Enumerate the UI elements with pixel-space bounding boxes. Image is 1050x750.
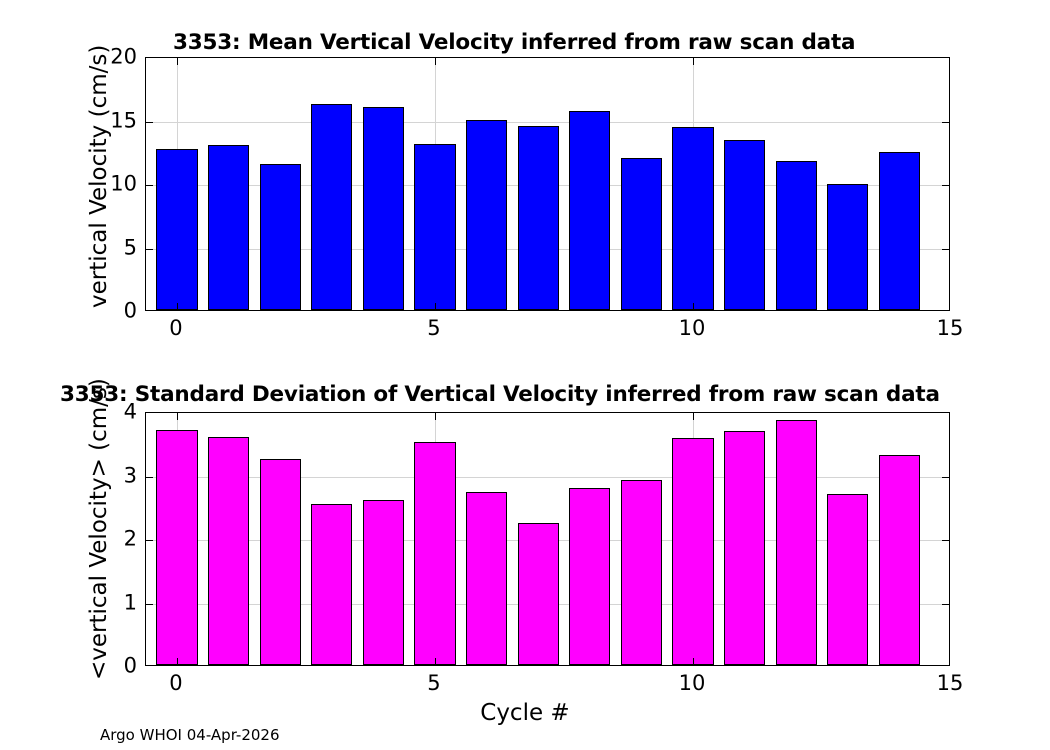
y-tick-mark	[942, 185, 949, 186]
footer-credit: Argo WHOI 04-Apr-2026	[100, 726, 280, 744]
x-axis-label: Cycle #	[0, 700, 1050, 726]
grid-line-horizontal	[146, 122, 949, 123]
bar	[724, 140, 765, 310]
bar	[414, 442, 455, 665]
chart-title-mean: 3353: Mean Vertical Velocity inferred fr…	[173, 30, 855, 55]
y-tick-labels-std: 01234	[55, 412, 145, 666]
x-tick-mark	[435, 303, 436, 310]
plot-area-std	[146, 413, 949, 665]
bar	[363, 107, 404, 310]
bar	[621, 158, 662, 310]
x-tick-mark	[693, 58, 694, 65]
plot-area-mean	[146, 58, 949, 310]
y-tick-label: 15	[55, 110, 145, 131]
x-tick-label: 5	[427, 673, 440, 694]
bar	[724, 431, 765, 665]
y-tick-mark	[146, 249, 153, 250]
y-tick-label: 2	[55, 529, 145, 550]
figure-root: 3353: Mean Vertical Velocity inferred fr…	[0, 0, 1050, 750]
y-tick-mark	[146, 122, 153, 123]
y-tick-label: 3	[55, 465, 145, 486]
y-tick-mark	[146, 604, 153, 605]
bar	[879, 455, 920, 665]
bar	[156, 430, 197, 665]
bar	[363, 500, 404, 665]
bar	[466, 492, 507, 665]
x-tick-mark	[435, 413, 436, 420]
x-tick-label: 10	[679, 673, 706, 694]
bar	[621, 480, 662, 665]
bar	[311, 104, 352, 310]
x-tick-mark	[177, 413, 178, 420]
x-tick-label: 15	[937, 673, 964, 694]
y-tick-mark	[942, 249, 949, 250]
bar	[879, 152, 920, 310]
x-tick-mark	[177, 58, 178, 65]
y-tick-label: 0	[55, 301, 145, 322]
y-tick-mark	[942, 540, 949, 541]
bar	[260, 459, 301, 665]
x-tick-label: 15	[937, 318, 964, 339]
x-tick-mark	[435, 658, 436, 665]
x-tick-mark	[693, 303, 694, 310]
bar	[672, 438, 713, 665]
bar	[776, 420, 817, 665]
bar	[260, 164, 301, 310]
y-tick-mark	[146, 540, 153, 541]
x-tick-label: 5	[427, 318, 440, 339]
bar	[156, 149, 197, 310]
bar	[827, 184, 868, 310]
bar	[311, 504, 352, 665]
x-tick-label: 0	[169, 318, 182, 339]
x-tick-mark	[693, 413, 694, 420]
y-tick-label: 20	[55, 47, 145, 68]
bar	[569, 111, 610, 310]
x-tick-label: 0	[169, 673, 182, 694]
x-tick-mark	[177, 303, 178, 310]
y-tick-label: 4	[55, 402, 145, 423]
y-tick-mark	[942, 122, 949, 123]
bar	[466, 120, 507, 310]
bar	[518, 126, 559, 310]
bar	[208, 437, 249, 665]
x-tick-label: 10	[679, 318, 706, 339]
x-tick-mark	[693, 658, 694, 665]
y-tick-mark	[146, 477, 153, 478]
y-tick-mark	[146, 185, 153, 186]
bar	[208, 145, 249, 310]
y-tick-label: 10	[55, 174, 145, 195]
y-tick-labels-mean: 05101520	[55, 57, 145, 311]
bar	[518, 523, 559, 665]
x-tick-labels-std: 051015	[145, 673, 950, 701]
y-tick-mark	[942, 477, 949, 478]
y-tick-mark	[942, 604, 949, 605]
x-tick-mark	[177, 658, 178, 665]
bar	[569, 488, 610, 665]
plot-axes-mean	[145, 57, 950, 311]
chart-title-std: 3353: Standard Deviation of Vertical Vel…	[60, 382, 940, 407]
bar	[414, 144, 455, 310]
bar	[672, 127, 713, 311]
x-tick-labels-mean: 051015	[145, 318, 950, 346]
y-tick-label: 1	[55, 592, 145, 613]
x-tick-mark	[435, 58, 436, 65]
bar	[827, 494, 868, 665]
plot-axes-std	[145, 412, 950, 666]
y-tick-label: 5	[55, 237, 145, 258]
y-tick-label: 0	[55, 656, 145, 677]
bar	[776, 161, 817, 310]
